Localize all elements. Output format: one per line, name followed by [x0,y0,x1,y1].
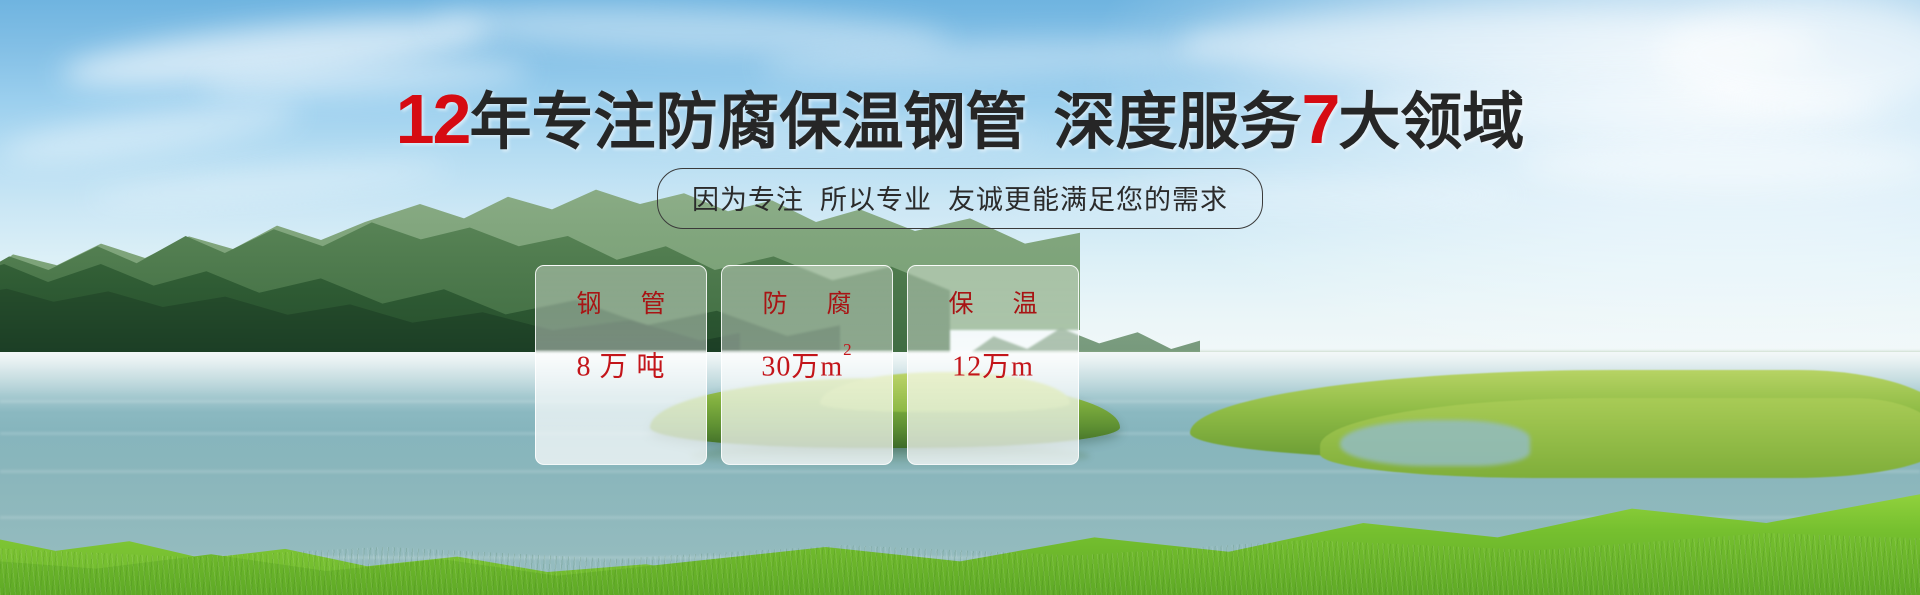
stat-card-title: 防 腐 [722,292,892,317]
marsh-water-inlet [1340,420,1530,466]
stat-card-value-sup: 2 [843,340,853,359]
stat-card-value: 12万m [908,351,1078,381]
stat-card-title: 钢 管 [536,292,706,317]
banner-headline: 12年专注防腐保温钢管深度服务7大领域 [0,84,1920,154]
stat-card-value-text: 12万m [952,351,1034,382]
headline-segment-1: 年专注防腐保温钢管 [469,88,1027,157]
stat-card-insulation[interactable]: 保 温 12万m [907,265,1079,465]
subtitle-part-3: 友诚更能满足您的需求 [948,185,1228,215]
stat-card-title: 保 温 [908,292,1078,317]
headline-fields-number: 7 [1301,80,1338,158]
stat-card-value-text: 8 万 吨 [576,351,665,382]
banner-subtitle-wrap: 因为专注所以专业友诚更能满足您的需求 [0,168,1920,229]
stat-card-value: 8 万 吨 [536,351,706,381]
stat-card-group: 钢 管 8 万 吨 防 腐 30万m2 保 温 12万m [535,265,1079,465]
headline-segment-2: 深度服务 [1053,88,1301,157]
headline-segment-3: 大领域 [1338,88,1524,157]
subtitle-part-1: 因为专注 [692,185,804,215]
stat-card-anticorrosion[interactable]: 防 腐 30万m2 [721,265,893,465]
stat-card-steel-pipe[interactable]: 钢 管 8 万 吨 [535,265,707,465]
banner-subtitle: 因为专注所以专业友诚更能满足您的需求 [657,168,1263,229]
hero-banner: 12年专注防腐保温钢管深度服务7大领域 因为专注所以专业友诚更能满足您的需求 钢… [0,0,1920,595]
stat-card-value: 30万m2 [722,351,892,381]
headline-years-number: 12 [396,80,470,158]
stat-card-value-text: 30万m [761,351,843,382]
subtitle-part-2: 所以专业 [820,185,932,215]
